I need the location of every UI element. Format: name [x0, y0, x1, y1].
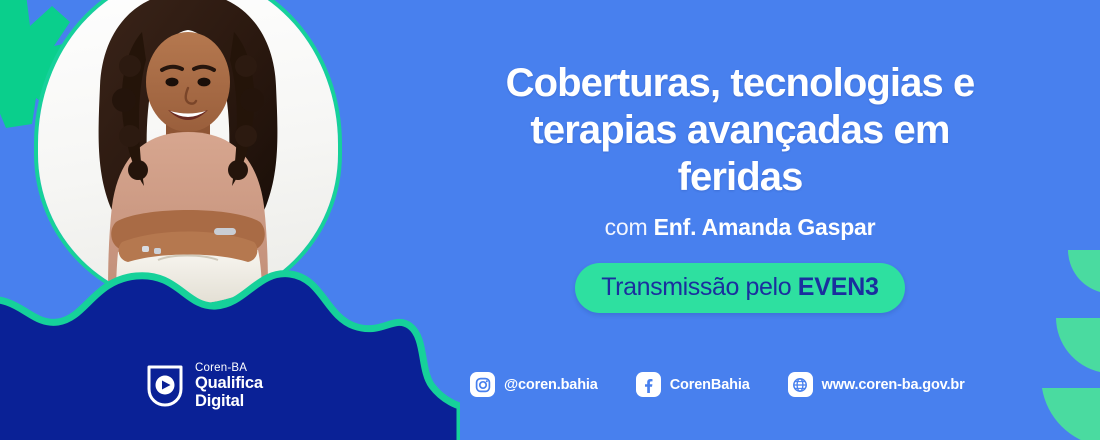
logo-top-line: Coren-BA [195, 362, 263, 374]
social-label-instagram: @coren.bahia [504, 377, 598, 393]
instagram-icon [470, 372, 495, 397]
social-item-facebook[interactable]: CorenBahia [636, 372, 750, 397]
page-title: Coberturas, tecnologias e terapias avanç… [420, 60, 1060, 200]
social-item-website[interactable]: www.coren-ba.gov.br [788, 372, 965, 397]
logo-wordmark: Coren-BA Qualifica Digital [195, 362, 263, 410]
subhead-prefix: com [605, 214, 654, 240]
speaker-name: Enf. Amanda Gaspar [654, 214, 876, 240]
social-label-facebook: CorenBahia [670, 377, 750, 393]
broadcast-cta-button[interactable]: Transmissão pelo EVEN3 [575, 263, 905, 313]
headline-line-2: terapias avançadas em [530, 108, 949, 152]
cta-prefix: Transmissão pelo [601, 273, 798, 301]
cta-brand: EVEN3 [798, 273, 879, 301]
promo-banner: Coren-BA Qualifica Digital Coberturas, t… [0, 0, 1100, 440]
qualifica-digital-logo[interactable]: Coren-BA Qualifica Digital [146, 362, 263, 410]
social-item-instagram[interactable]: @coren.bahia [470, 372, 598, 397]
social-links-row: @coren.bahia CorenBahia www.coren-ba [470, 372, 965, 397]
logo-line-2: Digital [195, 393, 263, 410]
social-label-website: www.coren-ba.gov.br [822, 377, 965, 393]
shield-play-icon [146, 364, 184, 408]
headline-line-3: feridas [678, 155, 803, 199]
logo-line-1: Qualifica [195, 375, 263, 392]
content-block: Coberturas, tecnologias e terapias avanç… [420, 60, 1060, 313]
facebook-icon [636, 372, 661, 397]
headline-line-1: Coberturas, tecnologias e [506, 61, 975, 105]
globe-icon [788, 372, 813, 397]
speaker-subtitle: com Enf. Amanda Gaspar [420, 214, 1060, 241]
